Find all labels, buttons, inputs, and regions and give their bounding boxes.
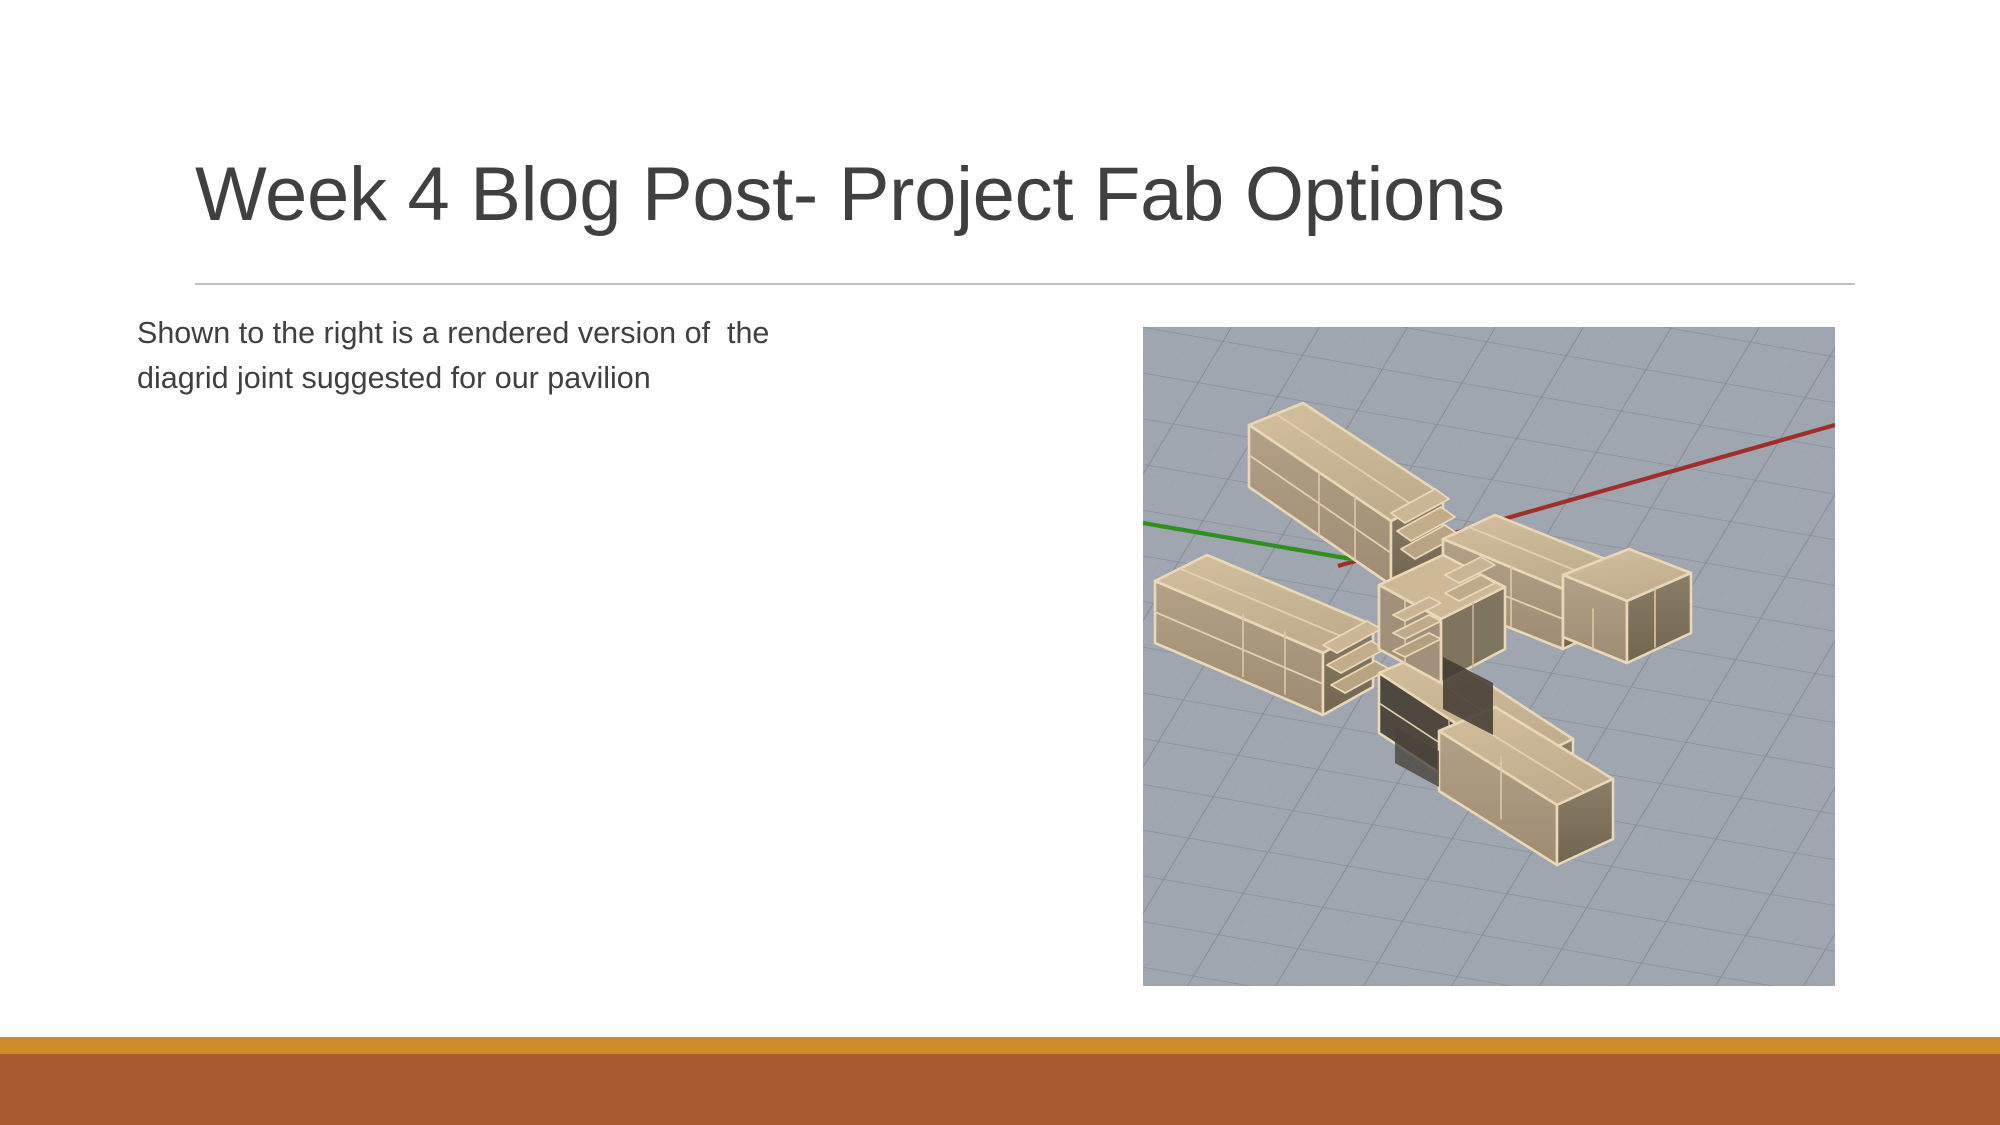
slide-canvas: Week 4 Blog Post- Project Fab Options Sh… <box>0 0 2000 1125</box>
viewport-render-svg <box>1143 327 1835 986</box>
body-text-line-1: Shown to the right is a rendered version… <box>137 311 997 356</box>
footer-band-terracotta <box>0 1054 2000 1125</box>
footer-band-gold <box>0 1037 2000 1054</box>
title-divider-rule <box>195 283 1855 285</box>
body-text-line-2: diagrid joint suggested for our pavilion <box>137 356 997 401</box>
page-title: Week 4 Blog Post- Project Fab Options <box>195 152 1855 237</box>
rendered-joint-image[interactable] <box>1143 327 1835 986</box>
body-text-placeholder[interactable]: Shown to the right is a rendered version… <box>137 311 997 401</box>
title-placeholder[interactable]: Week 4 Blog Post- Project Fab Options <box>195 152 1855 237</box>
